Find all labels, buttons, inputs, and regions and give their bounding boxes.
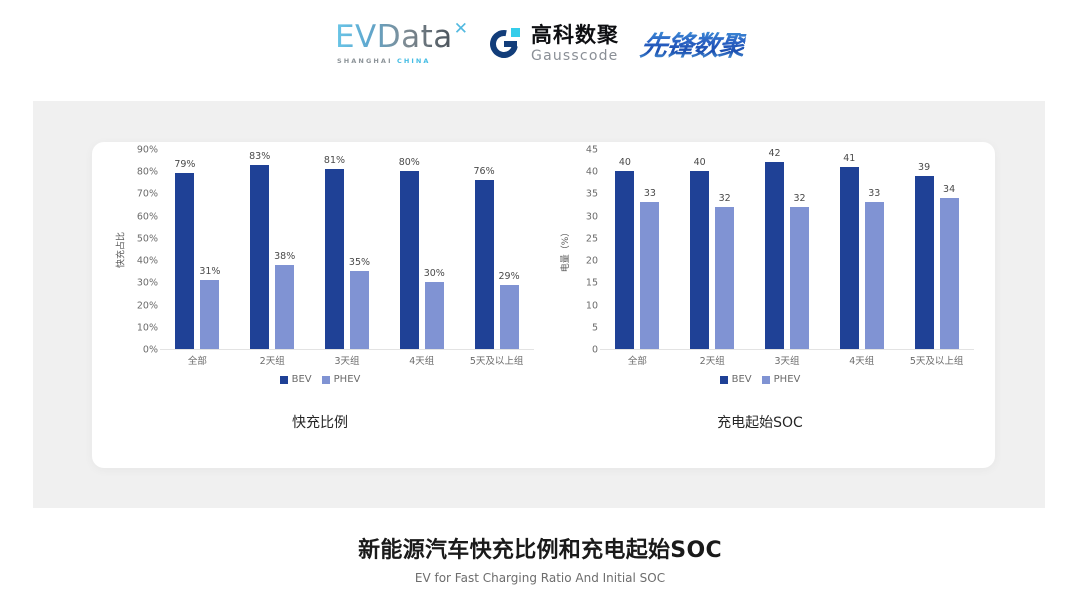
bar-wrapper: 38% [275, 149, 294, 349]
evdata-tagline: SHANGHAI CHINA [337, 57, 431, 65]
xianfeng-logo: 先锋数聚 [638, 24, 748, 63]
y-axis-tick: 40% [137, 256, 158, 267]
bar-value-label: 35% [349, 257, 370, 268]
bar-wrapper: 40 [615, 149, 634, 349]
bar-group: 4032 [675, 149, 750, 349]
bar-groups: 40334032423241333934 [600, 149, 974, 349]
bar-phev[interactable] [200, 280, 219, 349]
bar-bev[interactable] [250, 165, 269, 349]
bar-wrapper: 81% [325, 149, 344, 349]
legend-item-phev[interactable]: PHEV [322, 374, 361, 385]
bar-value-label: 30% [424, 268, 445, 279]
chart-title-right: 充电起始SOC [540, 412, 980, 432]
gausscode-square-shape [511, 28, 520, 37]
gausscode-name-cn: 高科数聚 [531, 25, 619, 46]
y-axis-tick: 0 [592, 345, 598, 356]
legend-item-bev[interactable]: BEV [280, 374, 312, 385]
bar-phev[interactable] [500, 285, 519, 349]
bar-value-label: 29% [499, 271, 520, 282]
bar-bev[interactable] [765, 162, 784, 349]
bar-value-label: 32 [793, 193, 805, 204]
bars-region: 40334032423241333934 [600, 150, 974, 350]
y-axis-tick: 50% [137, 233, 158, 244]
y-axis-tick: 0% [143, 345, 158, 356]
bar-group: 4133 [824, 149, 899, 349]
bar-bev[interactable] [325, 169, 344, 349]
legend-label-phev: PHEV [334, 374, 361, 385]
bar-group: 80%30% [384, 149, 459, 349]
x-axis-category-label: 全部 [600, 353, 675, 369]
y-axis-ticks: 454035302520151050 [562, 150, 598, 350]
bar-wrapper: 80% [400, 149, 419, 349]
chart-fast-charging-ratio: 快充占比 90%80%70%60%50%40%30%20%10%0% 79%31… [100, 150, 540, 450]
footer: 新能源汽车快充比例和充电起始SOC EV for Fast Charging R… [0, 532, 1080, 585]
bar-value-label: 40 [694, 157, 706, 168]
bar-value-label: 31% [199, 266, 220, 277]
y-axis-tick: 15 [586, 278, 598, 289]
legend-item-bev[interactable]: BEV [720, 374, 752, 385]
y-axis-tick: 30% [137, 278, 158, 289]
legend-label-bev: BEV [292, 374, 312, 385]
y-axis-tick: 90% [137, 145, 158, 156]
y-axis-tick: 10 [586, 300, 598, 311]
y-axis-tick: 25 [586, 233, 598, 244]
bar-value-label: 39 [918, 162, 930, 173]
legend-label-phev: PHEV [774, 374, 801, 385]
legend-label-bev: BEV [732, 374, 752, 385]
charts-container: 快充占比 90%80%70%60%50%40%30%20%10%0% 79%31… [92, 150, 995, 450]
bar-value-label: 76% [474, 166, 495, 177]
gausscode-text: 高科数聚 Gausscode [531, 25, 619, 63]
bar-wrapper: 34 [940, 149, 959, 349]
bar-wrapper: 40 [690, 149, 709, 349]
gausscode-bar-shape [504, 41, 517, 47]
y-axis-tick: 35 [586, 189, 598, 200]
chart-title-left: 快充比例 [100, 412, 540, 432]
x-axis-category-label: 全部 [160, 353, 235, 369]
bar-phev[interactable] [350, 271, 369, 349]
bar-value-label: 33 [644, 188, 656, 199]
bar-value-label: 32 [719, 193, 731, 204]
y-axis-tick: 40 [586, 167, 598, 178]
bar-bev[interactable] [400, 171, 419, 349]
bar-group: 83%38% [235, 149, 310, 349]
y-axis-tick: 60% [137, 211, 158, 222]
x-axis-category-label: 5天及以上组 [459, 353, 534, 369]
bar-wrapper: 79% [175, 149, 194, 349]
y-axis-tick: 70% [137, 189, 158, 200]
bar-phev[interactable] [940, 198, 959, 349]
bar-phev[interactable] [275, 265, 294, 349]
bar-bev[interactable] [915, 176, 934, 349]
bar-wrapper: 32 [790, 149, 809, 349]
bar-wrapper: 29% [500, 149, 519, 349]
bar-wrapper: 76% [475, 149, 494, 349]
bar-value-label: 41 [843, 153, 855, 164]
legend-swatch-bev-icon [280, 376, 288, 384]
y-axis-tick: 20% [137, 300, 158, 311]
bar-wrapper: 30% [425, 149, 444, 349]
bar-value-label: 80% [399, 157, 420, 168]
bar-wrapper: 32 [715, 149, 734, 349]
evdata-tagline-city: SHANGHAI [337, 57, 393, 65]
bar-value-label: 33 [868, 188, 880, 199]
x-spark-icon: ✕ [454, 19, 468, 39]
legend-swatch-phev-icon [762, 376, 770, 384]
bar-wrapper: 33 [865, 149, 884, 349]
bar-phev[interactable] [640, 202, 659, 349]
bar-value-label: 42 [768, 148, 780, 159]
y-axis-tick: 20 [586, 256, 598, 267]
legend-swatch-bev-icon [720, 376, 728, 384]
bar-wrapper: 42 [765, 149, 784, 349]
y-axis-tick: 30 [586, 211, 598, 222]
x-axis-category-label: 4天组 [824, 353, 899, 369]
bar-wrapper: 39 [915, 149, 934, 349]
evdata-wordmark: EVData [335, 22, 453, 53]
bar-value-label: 40 [619, 157, 631, 168]
bar-bev[interactable] [840, 167, 859, 349]
bar-bev[interactable] [615, 171, 634, 349]
x-axis-category-label: 3天组 [310, 353, 385, 369]
logo-bar: EVData ✕ SHANGHAI CHINA 高科数聚 Gausscode 先… [0, 22, 1080, 65]
bar-group: 4033 [600, 149, 675, 349]
bar-wrapper: 83% [250, 149, 269, 349]
x-axis-categories: 全部2天组3天组4天组5天及以上组 [160, 353, 534, 369]
gausscode-logo: 高科数聚 Gausscode [490, 25, 619, 63]
evdata-logo: EVData ✕ SHANGHAI CHINA [335, 22, 468, 65]
legend-swatch-phev-icon [322, 376, 330, 384]
bar-group: 76%29% [459, 149, 534, 349]
bar-phev[interactable] [790, 207, 809, 349]
x-axis-category-label: 2天组 [675, 353, 750, 369]
bar-wrapper: 41 [840, 149, 859, 349]
x-axis-category-label: 4天组 [384, 353, 459, 369]
footer-subtitle: EV for Fast Charging Ratio And Initial S… [0, 571, 1080, 585]
x-axis-category-label: 5天及以上组 [899, 353, 974, 369]
bars-region: 79%31%83%38%81%35%80%30%76%29% [160, 150, 534, 350]
bar-phev[interactable] [865, 202, 884, 349]
evdata-wordmark-row: EVData ✕ [335, 22, 468, 53]
bar-value-label: 34 [943, 184, 955, 195]
x-axis-category-label: 2天组 [235, 353, 310, 369]
bar-value-label: 79% [174, 159, 195, 170]
bar-phev[interactable] [715, 207, 734, 349]
y-axis-ticks: 90%80%70%60%50%40%30%20%10%0% [122, 150, 158, 350]
footer-title: 新能源汽车快充比例和充电起始SOC [0, 532, 1080, 564]
gausscode-name-en: Gausscode [531, 49, 619, 63]
y-axis-tick: 5 [592, 322, 598, 333]
bar-bev[interactable] [175, 173, 194, 349]
bar-value-label: 81% [324, 155, 345, 166]
slide-page: EVData ✕ SHANGHAI CHINA 高科数聚 Gausscode 先… [0, 0, 1080, 608]
bar-groups: 79%31%83%38%81%35%80%30%76%29% [160, 149, 534, 349]
plot-area-left: 快充占比 90%80%70%60%50%40%30%20%10%0% 79%31… [100, 150, 540, 350]
bar-wrapper: 31% [200, 149, 219, 349]
bar-wrapper: 35% [350, 149, 369, 349]
bar-value-label: 38% [274, 251, 295, 262]
bar-wrapper: 33 [640, 149, 659, 349]
legend-item-phev[interactable]: PHEV [762, 374, 801, 385]
y-axis-tick: 80% [137, 167, 158, 178]
bar-group: 79%31% [160, 149, 235, 349]
y-axis-tick: 45 [586, 145, 598, 156]
chart-initial-soc: 电量（%） 454035302520151050 403340324232413… [540, 150, 980, 450]
bar-bev[interactable] [475, 180, 494, 349]
x-axis-category-label: 3天组 [750, 353, 825, 369]
bar-group: 81%35% [310, 149, 385, 349]
plot-area-right: 电量（%） 454035302520151050 403340324232413… [540, 150, 980, 350]
bar-bev[interactable] [690, 171, 709, 349]
bar-group: 3934 [899, 149, 974, 349]
gausscode-g-icon [490, 27, 524, 61]
evdata-tagline-country: CHINA [397, 57, 431, 65]
y-axis-tick: 10% [137, 322, 158, 333]
bar-phev[interactable] [425, 282, 444, 349]
x-axis-categories: 全部2天组3天组4天组5天及以上组 [600, 353, 974, 369]
bar-value-label: 83% [249, 151, 270, 162]
bar-group: 4232 [750, 149, 825, 349]
legend-right: BEV PHEV [540, 374, 980, 385]
legend-left: BEV PHEV [100, 374, 540, 385]
